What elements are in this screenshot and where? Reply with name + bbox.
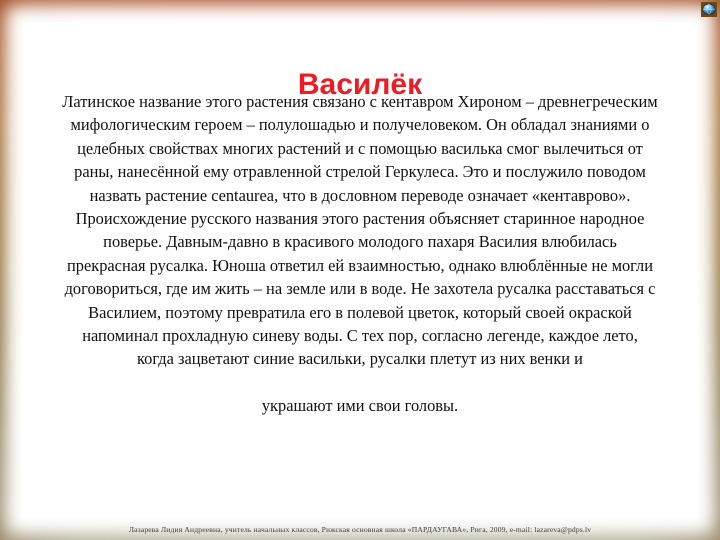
footer-credit: Лазарева Лидия Андреевна, учитель началь… [0, 525, 720, 535]
slide-content-plate: Василёк Латинское название этого растени… [26, 26, 694, 514]
body-paragraph-2: украшают ими свои головы. [62, 394, 658, 417]
globe-icon[interactable] [701, 2, 717, 17]
presentation-slide: Василёк Латинское название этого растени… [0, 0, 720, 540]
body-text-block: Латинское название этого растения связан… [62, 90, 658, 417]
body-paragraph-1: Латинское название этого растения связан… [62, 90, 658, 371]
